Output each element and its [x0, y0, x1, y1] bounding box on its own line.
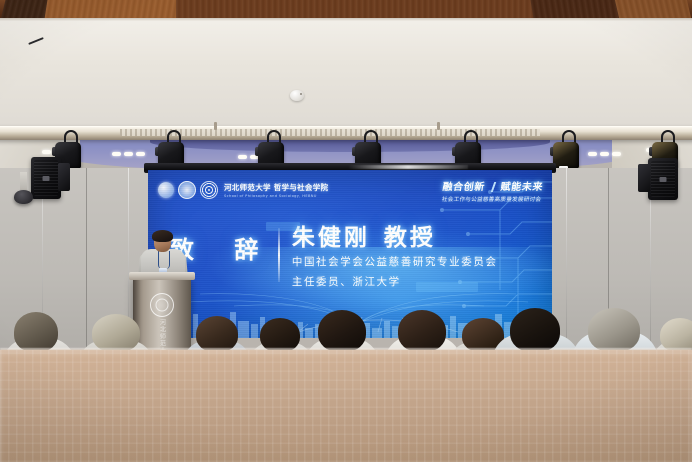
- camera-mount: [20, 172, 27, 192]
- presenter-hair: [152, 230, 173, 242]
- speaker-name: 朱健刚: [292, 225, 370, 251]
- right-wall-speaker: [648, 158, 678, 200]
- slogan-part-1: 融合创新: [441, 182, 485, 193]
- speaker-title: 教授: [384, 225, 436, 251]
- podium-top: [129, 272, 195, 280]
- screen-title-block: 致 辞 朱健刚教授 中国社会学会公益慈善研究专业委员会 主任委员、浙江大学: [170, 226, 540, 290]
- audience-head: [14, 312, 58, 352]
- dome-camera-icon: [14, 190, 33, 204]
- audience-head: [318, 310, 366, 352]
- audience-head: [588, 308, 640, 352]
- foreground-table: [0, 350, 692, 462]
- recessed-downlight: [112, 152, 145, 156]
- audience-head: [92, 314, 140, 352]
- ceiling-shadow-line: [0, 18, 692, 21]
- audience-head: [398, 310, 446, 352]
- circular-emblem-2-icon: [178, 181, 196, 199]
- university-name-cn: 河北师范大学 哲学与社会学院: [224, 182, 328, 193]
- title-divider: [278, 228, 280, 282]
- audience-front-row: [0, 292, 692, 352]
- left-wall-speaker-wing: [58, 163, 70, 191]
- screen-header: 河北师范大学 哲学与社会学院 School of Philosophy and …: [158, 178, 542, 202]
- slogan-divider-icon: [490, 182, 495, 192]
- affiliation-line-1: 中国社会学会公益慈善研究专业委员会: [292, 255, 498, 270]
- university-name-en: School of Philosophy and Sociology, HEBN…: [224, 194, 328, 198]
- slogan-part-2: 赋能未来: [499, 182, 543, 193]
- organizer-logos: 河北师范大学 哲学与社会学院 School of Philosophy and …: [158, 181, 328, 199]
- event-slogan: 融合创新 赋能未来 社会工作与公益慈善高质量发展研讨会: [440, 178, 544, 203]
- truss-bolt: [214, 122, 217, 130]
- bezel-glint: [348, 165, 468, 169]
- lanyard: [158, 251, 170, 269]
- audience-head: [660, 318, 692, 352]
- speaker-name-row: 朱健刚教授: [292, 226, 498, 251]
- circular-emblem-1-icon: [158, 182, 174, 198]
- recessed-downlight: [588, 152, 621, 156]
- conference-hall-photo: 河北师范大学 哲学与社会学院 School of Philosophy and …: [0, 0, 692, 462]
- audience-head: [260, 318, 300, 352]
- audience-head: [510, 308, 560, 352]
- smoke-detector-icon: [290, 90, 304, 101]
- ceiling-soffit: [0, 18, 692, 128]
- circular-emblem-3-icon: [200, 181, 218, 199]
- audience-head: [196, 316, 238, 352]
- right-wall-speaker-wing: [638, 164, 650, 192]
- left-wall-speaker: [31, 157, 61, 199]
- event-subtitle: 社会工作与公益慈善高质量发展研讨会: [440, 195, 542, 203]
- truss-bolt: [437, 122, 440, 130]
